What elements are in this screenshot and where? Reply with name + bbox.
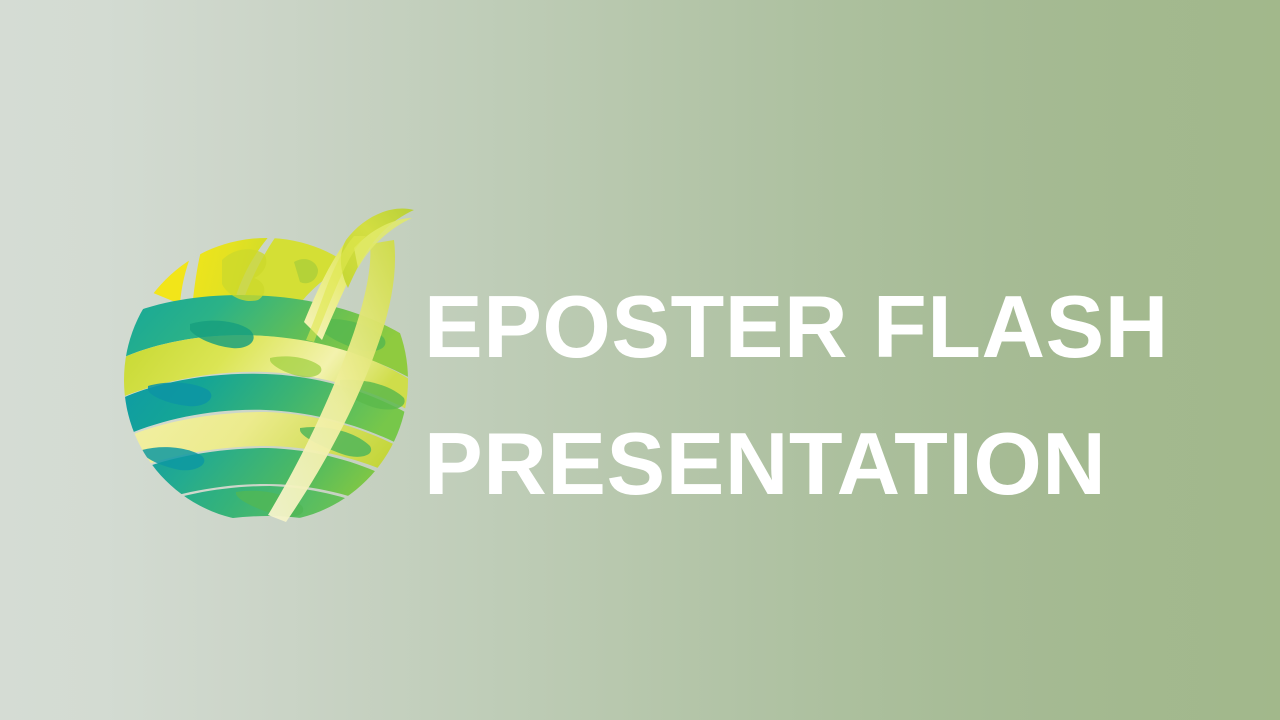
title-line-2: PRESENTATION — [424, 395, 1224, 532]
globe-ribbon-bands — [118, 211, 414, 525]
slide-canvas: EPOSTER FLASH PRESENTATION — [0, 0, 1280, 720]
slide-title: EPOSTER FLASH PRESENTATION — [424, 258, 1224, 532]
spiral-globe-leaf-logo — [118, 200, 418, 525]
title-line-1: EPOSTER FLASH — [424, 258, 1224, 395]
